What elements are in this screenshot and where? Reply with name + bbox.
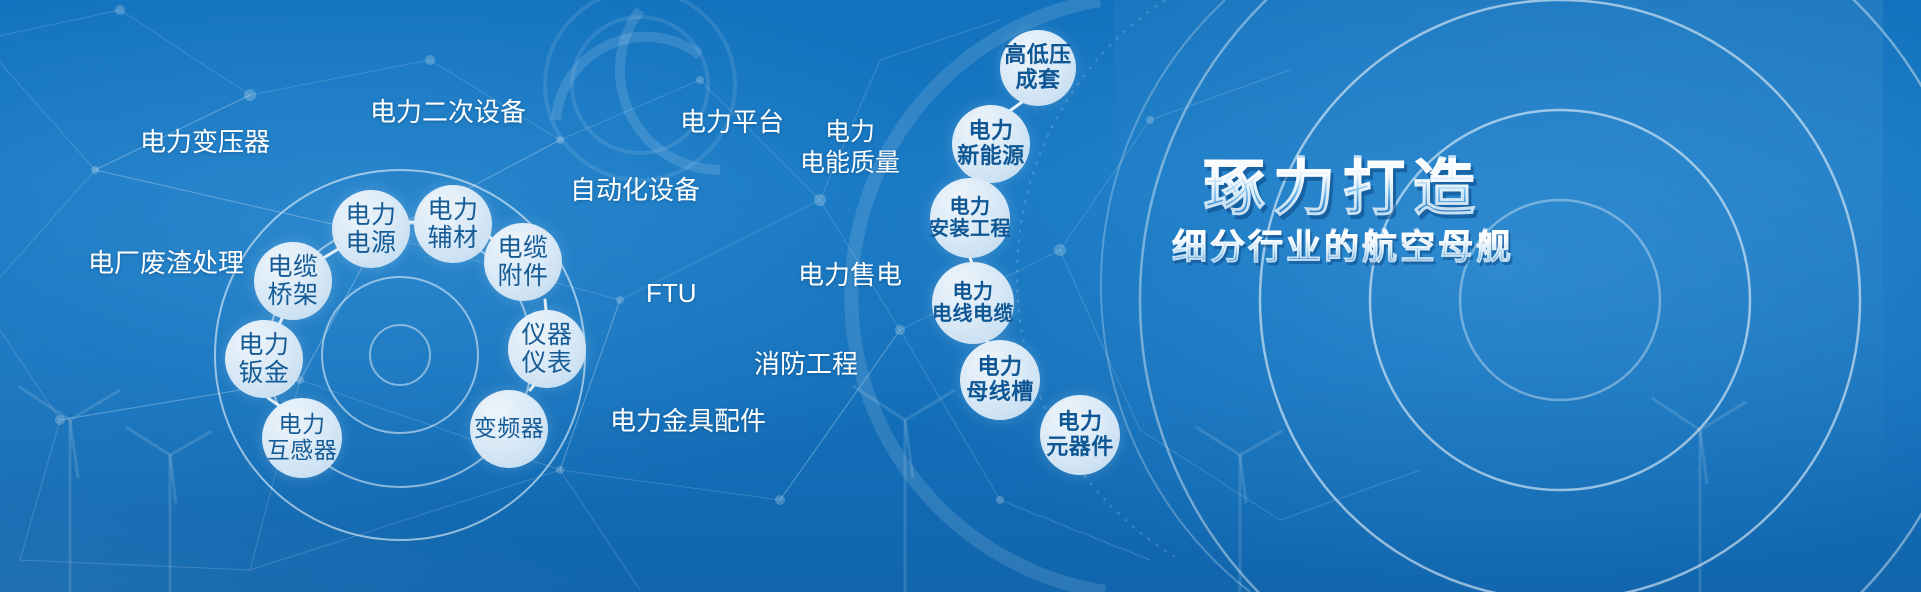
node-cable-accessory[interactable]: 电缆 附件: [484, 223, 562, 301]
label-ftu: FTU: [646, 278, 697, 310]
label-line: 电能质量: [790, 148, 910, 179]
light-sweep-right: [1114, 0, 1882, 592]
node-line: 桥架: [267, 281, 318, 309]
node-line: 母线槽: [966, 380, 1034, 405]
node-line: 电缆: [497, 234, 548, 262]
node-line: 电力: [968, 119, 1013, 144]
node-line: 仪器: [521, 321, 572, 349]
node-hv-lv-switchgear[interactable]: 高低压 成套: [1000, 30, 1076, 106]
label-power-quality: 电力 电能质量: [790, 117, 910, 178]
label-power-platform: 电力平台: [680, 107, 784, 139]
light-sweep-left: [0, 296, 851, 592]
node-line: 新能源: [957, 144, 1025, 169]
radar-arc-icon: [556, 10, 720, 170]
node-new-energy[interactable]: 电力 新能源: [952, 105, 1030, 183]
node-line: 电力: [977, 355, 1022, 380]
node-installation-engineering[interactable]: 电力 安装工程: [930, 178, 1010, 258]
label-automation-equipment: 自动化设备: [570, 175, 700, 207]
hero-banner: 电力 电源 电力 辅材 电缆 桥架 电缆 附件 电力 钣金 仪器 仪表 电力 互…: [0, 0, 1921, 592]
node-line: 电力: [950, 196, 991, 218]
node-cable-tray[interactable]: 电缆 桥架: [254, 242, 332, 320]
node-line: 电力: [279, 412, 326, 438]
node-line: 附件: [497, 262, 548, 290]
node-busduct[interactable]: 电力 母线槽: [960, 340, 1040, 420]
node-instruments[interactable]: 仪器 仪表: [508, 310, 586, 388]
node-line: 电力: [427, 196, 478, 224]
label-line: 电力: [790, 117, 910, 148]
node-power-supply[interactable]: 电力 电源: [332, 190, 410, 268]
node-inverter[interactable]: 变频器: [470, 390, 548, 468]
node-wire-and-cable[interactable]: 电力 电线电缆: [932, 262, 1014, 344]
node-line: 元器件: [1046, 435, 1114, 460]
label-power-selling: 电力售电: [798, 260, 902, 292]
node-power-sheetmetal[interactable]: 电力 钣金: [225, 320, 303, 398]
node-line: 变频器: [474, 416, 545, 442]
headline-sub: 细分行业的航空母舰: [1128, 230, 1558, 265]
node-line: 辅材: [427, 224, 478, 252]
label-hardware-fittings: 电力金具配件: [610, 406, 766, 438]
node-line: 成套: [1015, 68, 1060, 93]
node-line: 电力: [345, 201, 396, 229]
node-line: 电力: [953, 281, 994, 303]
label-waste-treatment: 电厂废渣处理: [88, 248, 244, 280]
node-line: 仪表: [521, 349, 572, 377]
node-line: 高低压: [1004, 43, 1072, 68]
node-line: 安装工程: [929, 218, 1011, 240]
node-current-transformer[interactable]: 电力 互感器: [262, 398, 342, 478]
headline-main: 琢力打造: [1128, 158, 1558, 220]
label-power-transformer: 电力变压器: [140, 127, 270, 159]
headline-block: 琢力打造 细分行业的航空母舰: [1128, 158, 1558, 265]
label-secondary-equipment: 电力二次设备: [370, 97, 526, 129]
target-rings-icon: [1140, 0, 1921, 592]
node-power-components[interactable]: 电力 元器件: [1040, 395, 1120, 475]
label-fire-engineering: 消防工程: [754, 349, 858, 381]
network-mesh-icon: [0, 10, 1420, 590]
node-line: 钣金: [238, 359, 289, 387]
node-line: 互感器: [267, 438, 338, 464]
node-line: 电源: [345, 229, 396, 257]
node-power-auxiliary[interactable]: 电力 辅材: [414, 185, 492, 263]
node-line: 电力: [238, 331, 289, 359]
node-line: 电缆: [267, 253, 318, 281]
node-line: 电力: [1057, 410, 1102, 435]
node-line: 电线电缆: [932, 303, 1014, 325]
